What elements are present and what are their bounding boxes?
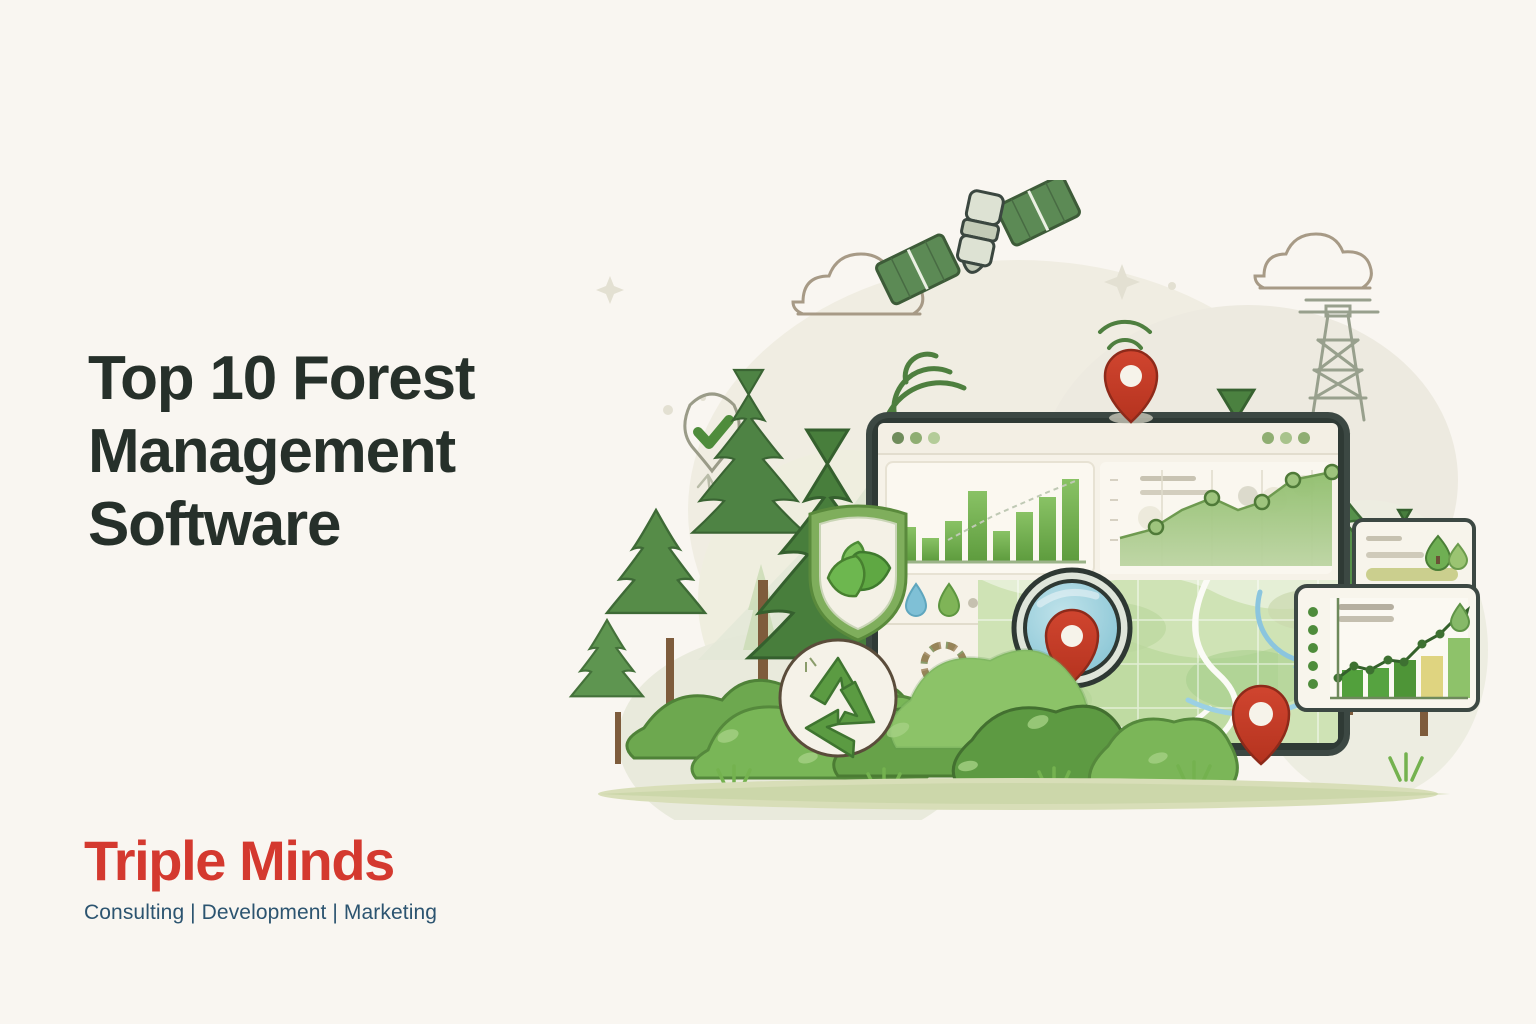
hero-illustration [548,180,1508,820]
dashboard-bar-chart[interactable] [886,462,1094,574]
page-title-line-1: Top 10 Forest [88,342,608,415]
cloud-right-icon [1255,234,1371,288]
poster-canvas: Top 10 Forest Management Software Triple… [0,0,1536,1024]
dashboard-area-chart[interactable] [1100,462,1339,574]
page-title: Top 10 Forest Management Software [88,342,608,561]
brand-tagline: Consulting | Development | Marketing [84,901,437,925]
page-title-line-2: Management [88,415,608,488]
recycle-badge-icon[interactable] [780,640,896,757]
page-title-line-3: Software [88,488,608,561]
brand-logo: Triple Minds Consulting | Development | … [84,833,437,925]
brand-name: Triple Minds [84,833,437,889]
side-card-combo-chart[interactable] [1296,586,1478,710]
